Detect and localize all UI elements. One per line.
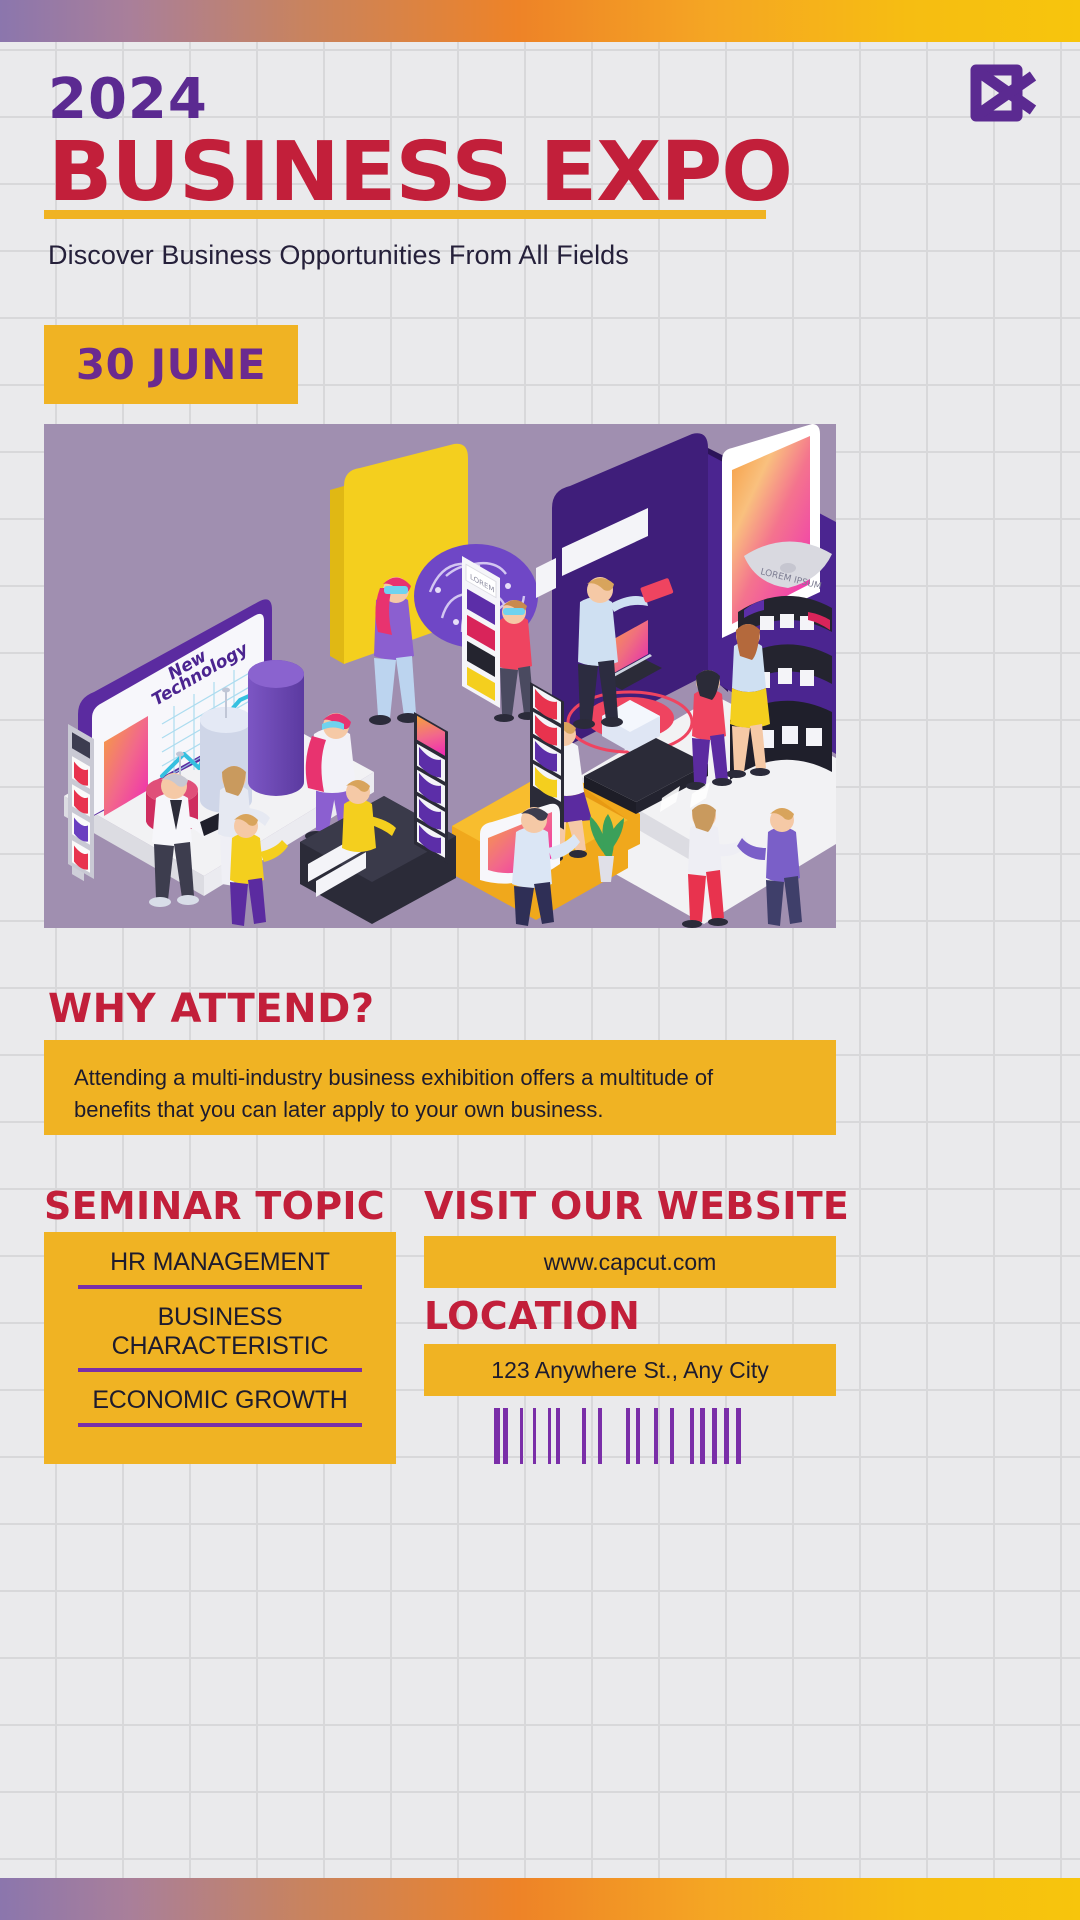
subtitle: Discover Business Opportunities From All… (48, 240, 629, 271)
barcode (494, 1408, 766, 1464)
barcode-gap (560, 1408, 582, 1464)
barcode-gap (602, 1408, 626, 1464)
location-address: 123 Anywhere St., Any City (491, 1357, 768, 1384)
capcut-logo-icon (967, 62, 1042, 124)
why-attend-body: Attending a multi-industry business exhi… (74, 1062, 774, 1126)
barcode-gap (536, 1408, 548, 1464)
seminar-topic-label: HR MANAGEMENT (60, 1248, 380, 1277)
barcode-bar (736, 1408, 741, 1464)
bottom-gradient-bar (0, 1878, 1080, 1920)
barcode-gap (658, 1408, 670, 1464)
seminar-topic-label: BUSINESS CHARACTERISTIC (60, 1303, 380, 1361)
website-url-box[interactable]: www.capcut.com (424, 1236, 836, 1288)
barcode-gap (674, 1408, 690, 1464)
spacer (60, 1289, 380, 1303)
visit-website-heading: VISIT OUR WEBSITE (424, 1184, 849, 1228)
seminar-topic-underline (78, 1423, 362, 1427)
seminar-topic-label: ECONOMIC GROWTH (60, 1386, 380, 1415)
top-gradient-bar (0, 0, 1080, 42)
location-heading: LOCATION (424, 1294, 640, 1338)
page-title: BUSINESS EXPO (48, 130, 792, 216)
spacer (60, 1372, 380, 1386)
seminar-topic-item[interactable]: BUSINESS CHARACTERISTIC (60, 1303, 380, 1373)
year-label: 2024 (48, 72, 208, 128)
date-badge-label: 30 JUNE (76, 340, 266, 389)
title-underline-rule (44, 210, 766, 219)
date-badge: 30 JUNE (44, 325, 298, 404)
website-url: www.capcut.com (544, 1249, 717, 1276)
location-address-box: 123 Anywhere St., Any City (424, 1344, 836, 1396)
seminar-topic-item[interactable]: HR MANAGEMENT (60, 1248, 380, 1289)
barcode-gap (717, 1408, 724, 1464)
barcode-gap (640, 1408, 654, 1464)
barcode-gap (729, 1408, 736, 1464)
expo-illustration: New Technology (44, 424, 836, 928)
barcode-gap (508, 1408, 520, 1464)
seminar-topic-heading: SEMINAR TOPIC (44, 1184, 385, 1228)
seminar-topic-box: HR MANAGEMENT BUSINESS CHARACTERISTIC EC… (44, 1232, 396, 1464)
barcode-gap (523, 1408, 533, 1464)
why-attend-heading: WHY ATTEND? (48, 986, 375, 1032)
barcode-gap (705, 1408, 712, 1464)
barcode-gap (586, 1408, 598, 1464)
seminar-topic-item[interactable]: ECONOMIC GROWTH (60, 1386, 380, 1427)
